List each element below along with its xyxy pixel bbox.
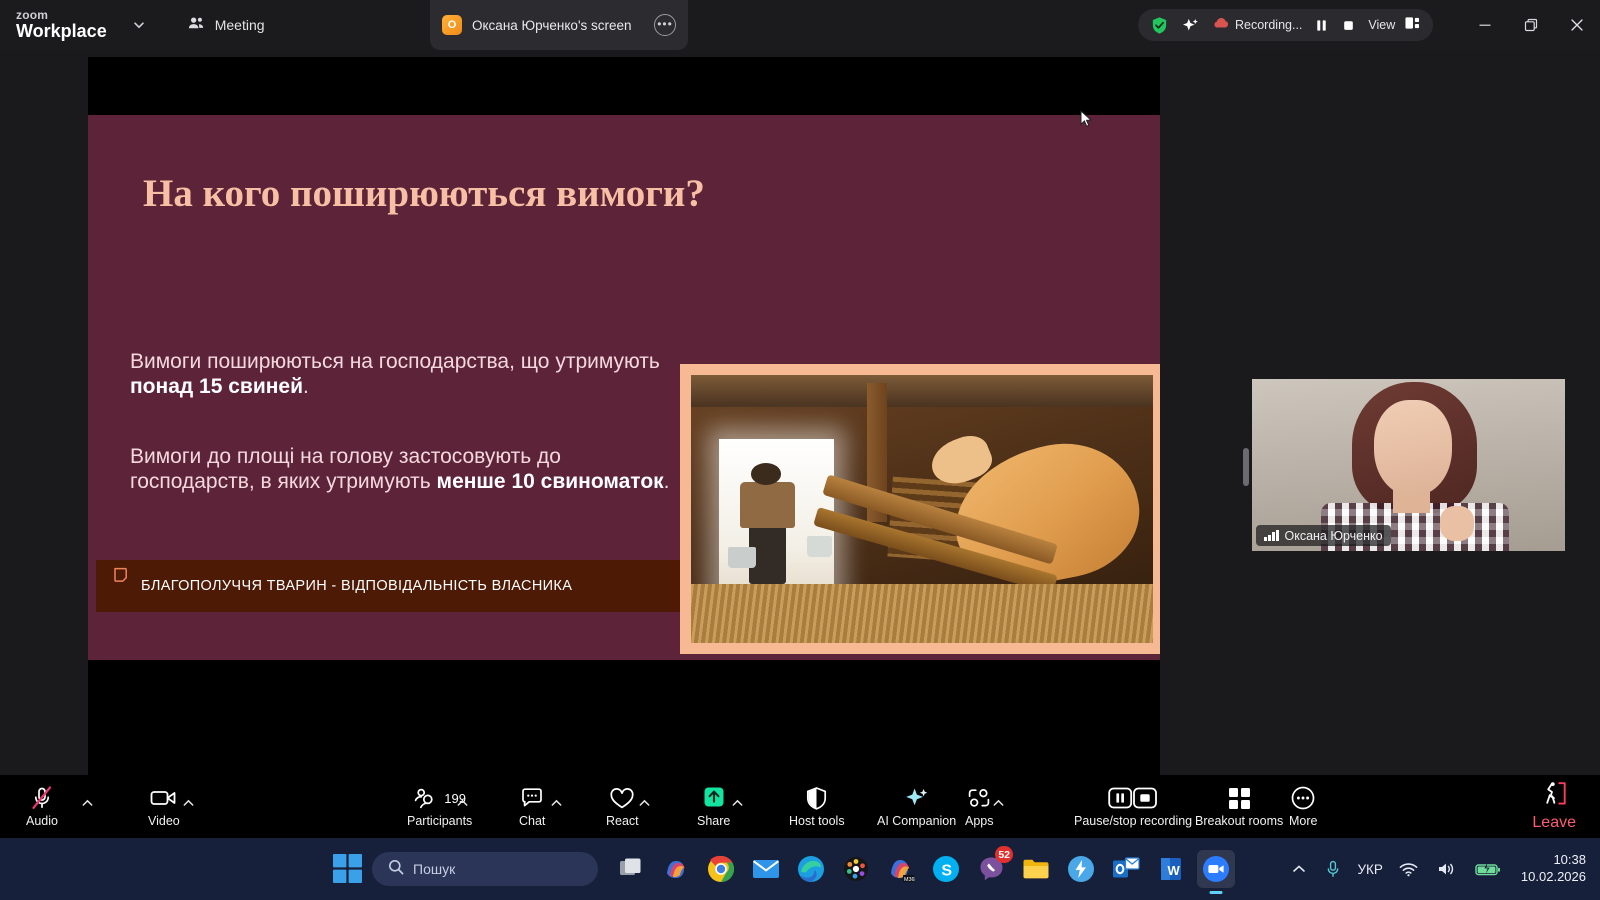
camera-icon: [150, 785, 178, 811]
volume-icon[interactable]: [1434, 858, 1459, 880]
slide-title: На кого поширюються вимоги?: [143, 171, 705, 216]
chat-bubble-icon: [520, 785, 545, 811]
taskbar-app-zoom[interactable]: [1197, 850, 1235, 888]
taskbar-app-skype[interactable]: S: [927, 850, 965, 888]
toolbar-caret-react[interactable]: [636, 793, 652, 813]
svg-text:S: S: [941, 862, 952, 879]
pause-recording-button[interactable]: [1308, 12, 1335, 38]
toolbar-label-react: React: [606, 814, 639, 828]
brand-workplace-text: Workplace: [16, 22, 107, 41]
taskbar-app-opera[interactable]: [1062, 850, 1100, 888]
leave-meeting-button[interactable]: Leave: [1532, 775, 1576, 838]
chevron-down-icon[interactable]: [125, 11, 153, 39]
view-label: View: [1368, 18, 1395, 32]
toolbar-label-breakout-rooms: Breakout rooms: [1195, 814, 1283, 828]
meeting-toolbar: Audio Video 199 Participants: [0, 775, 1600, 838]
layout-view-icon: [1405, 16, 1421, 35]
shared-screen-tab[interactable]: O Оксана Юрченко's screen •••: [430, 0, 688, 50]
tray-language-indicator[interactable]: УКР: [1357, 862, 1382, 877]
tray-time: 10:38: [1521, 852, 1586, 869]
participant-name-badge: Оксана Юрченко: [1256, 525, 1391, 546]
tab-app-icon: O: [442, 15, 462, 35]
heart-icon: [609, 785, 635, 811]
participant-avatar-face: [1374, 400, 1452, 496]
breakout-rooms-icon: [1227, 785, 1252, 811]
toolbar-label-host-tools: Host tools: [789, 814, 845, 828]
taskbar-app-file-explorer[interactable]: [1017, 850, 1055, 888]
toolbar-caret-apps[interactable]: [990, 793, 1006, 813]
toolbar-button-ai-companion[interactable]: AI Companion: [877, 775, 956, 838]
video-panel-scrollbar[interactable]: [1243, 448, 1249, 486]
taskbar-app-outlook[interactable]: [1107, 850, 1145, 888]
slide-paragraph-2-post: .: [664, 470, 670, 493]
meeting-tab[interactable]: Meeting: [175, 8, 277, 42]
taskbar-app-viber[interactable]: 52: [972, 850, 1010, 888]
participant-video-tile[interactable]: Оксана Юрченко: [1252, 379, 1565, 551]
toolbar-label-chat: Chat: [519, 814, 545, 828]
shared-screen-stage: На кого поширюються вимоги? Вимоги пошир…: [0, 50, 1600, 775]
chevron-up-icon[interactable]: [1289, 861, 1309, 877]
toolbar-caret-participants[interactable]: [454, 793, 470, 813]
toolbar-button-pause-stop-recording[interactable]: Pause/stop recording: [1074, 775, 1192, 838]
taskbar-app-mail[interactable]: [747, 850, 785, 888]
toolbar-button-share[interactable]: Share: [697, 775, 730, 838]
recording-indicator[interactable]: Recording...: [1206, 12, 1308, 38]
toolbar-label-ai-companion: AI Companion: [877, 814, 956, 828]
taskbar-app-copilot[interactable]: [657, 850, 695, 888]
toolbar-label-pause-stop-recording: Pause/stop recording: [1074, 814, 1192, 828]
toolbar-button-video[interactable]: Video: [148, 775, 180, 838]
shared-screen-content[interactable]: На кого поширюються вимоги? Вимоги пошир…: [88, 57, 1160, 775]
participant-avatar-hand: [1440, 506, 1474, 540]
ai-sparkle-icon: [904, 785, 930, 811]
meeting-status-cluster: Recording... View: [1138, 9, 1433, 41]
toolbar-caret-share[interactable]: [729, 793, 745, 813]
microphone-muted-icon: [29, 785, 55, 811]
note-icon: [114, 567, 129, 589]
leave-door-icon: [1540, 781, 1568, 811]
slide-photo: [680, 364, 1160, 654]
wifi-icon[interactable]: [1396, 859, 1421, 880]
slide-banner-text: БЛАГОПОЛУЧЧЯ ТВАРИН - ВІДПОВІДАЛЬНІСТЬ В…: [141, 578, 572, 594]
share-screen-icon: [700, 785, 728, 811]
svg-text:W: W: [1168, 863, 1181, 878]
toolbar-button-audio[interactable]: Audio: [26, 775, 58, 838]
shared-screen-tab-label: Оксана Юрченко's screen: [472, 18, 644, 33]
signal-bars-icon: [1264, 530, 1279, 541]
microphone-icon[interactable]: [1322, 857, 1344, 881]
restore-icon[interactable]: [1508, 0, 1554, 50]
viber-badge: 52: [995, 846, 1013, 863]
mouse-cursor: [1080, 110, 1093, 133]
tray-clock[interactable]: 10:38 10.02.2026: [1521, 852, 1586, 885]
view-button[interactable]: View: [1362, 12, 1427, 38]
toolbar-label-apps: Apps: [965, 814, 994, 828]
toolbar-button-breakout-rooms[interactable]: Breakout rooms: [1195, 775, 1283, 838]
taskbar-search-input[interactable]: Пошук: [372, 852, 598, 886]
system-tray: УКР 10:38 10.02.2026: [1289, 838, 1586, 900]
slide-photo-image: [691, 375, 1153, 643]
toolbar-caret-chat[interactable]: [548, 793, 564, 813]
windows-start-icon[interactable]: [333, 854, 363, 884]
taskbar-app-photos[interactable]: [837, 850, 875, 888]
slide-paragraph-2-bold: менше 10 свиноматок: [437, 470, 664, 493]
window-controls: [1462, 0, 1600, 50]
pause-stop-recording-icon: [1108, 785, 1158, 811]
windows-taskbar: Пошук: [0, 838, 1600, 900]
toolbar-button-chat[interactable]: Chat: [519, 775, 545, 838]
toolbar-caret-video[interactable]: [180, 793, 196, 813]
apps-icon: [966, 785, 992, 811]
brand-zoom-text: zoom: [16, 9, 107, 22]
stop-recording-button[interactable]: [1335, 12, 1362, 38]
taskbar-app-task-view[interactable]: [612, 850, 650, 888]
meeting-tab-label: Meeting: [215, 17, 265, 33]
toolbar-label-video: Video: [148, 814, 180, 828]
toolbar-label-participants: Participants: [407, 814, 472, 828]
taskbar-app-word[interactable]: W: [1152, 850, 1190, 888]
toolbar-label-audio: Audio: [26, 814, 58, 828]
toolbar-button-more[interactable]: More: [1289, 775, 1317, 838]
leave-label: Leave: [1532, 814, 1576, 832]
slide-paragraph-1: Вимоги поширюються на господарства, що у…: [130, 350, 700, 400]
title-bar: zoom Workplace Meeting O Оксана Юрченко'…: [0, 0, 1600, 50]
ai-sparkle-icon[interactable]: [1175, 12, 1206, 38]
people-icon: [187, 14, 206, 36]
more-dots-icon: [1290, 785, 1316, 811]
slide-paragraph-1-post: .: [303, 375, 309, 398]
recording-label: Recording...: [1235, 18, 1302, 32]
search-icon: [388, 859, 404, 880]
slide-paragraph-1-bold: понад 15 свиней: [130, 375, 303, 398]
zoom-logo: zoom Workplace: [16, 9, 107, 41]
toolbar-caret-audio[interactable]: [79, 793, 95, 813]
toolbar-label-share: Share: [697, 814, 730, 828]
taskbar-search-placeholder: Пошук: [413, 861, 455, 877]
shield-host-icon: [805, 785, 828, 811]
taskbar-app-edge[interactable]: [792, 850, 830, 888]
taskbar-app-m365[interactable]: M365: [882, 850, 920, 888]
toolbar-button-react[interactable]: React: [606, 775, 639, 838]
participant-name: Оксана Юрченко: [1285, 529, 1383, 543]
presentation-slide: На кого поширюються вимоги? Вимоги пошир…: [88, 115, 1160, 660]
tray-date: 10.02.2026: [1521, 869, 1586, 886]
minimize-icon[interactable]: [1462, 0, 1508, 50]
toolbar-button-host-tools[interactable]: Host tools: [789, 775, 845, 838]
battery-charging-icon[interactable]: [1472, 859, 1504, 880]
recording-cloud-icon: [1212, 16, 1230, 35]
shield-check-icon[interactable]: [1144, 12, 1175, 38]
slide-paragraph-1-pre: Вимоги поширюються на господарства, що у…: [130, 350, 660, 373]
slide-paragraph-2: Вимоги до площі на голову застосовують д…: [130, 445, 690, 495]
toolbar-label-more: More: [1289, 814, 1317, 828]
close-icon[interactable]: [1554, 0, 1600, 50]
more-options-icon[interactable]: •••: [654, 14, 676, 36]
taskbar-app-chrome[interactable]: [702, 850, 740, 888]
svg-text:M365: M365: [904, 877, 915, 883]
